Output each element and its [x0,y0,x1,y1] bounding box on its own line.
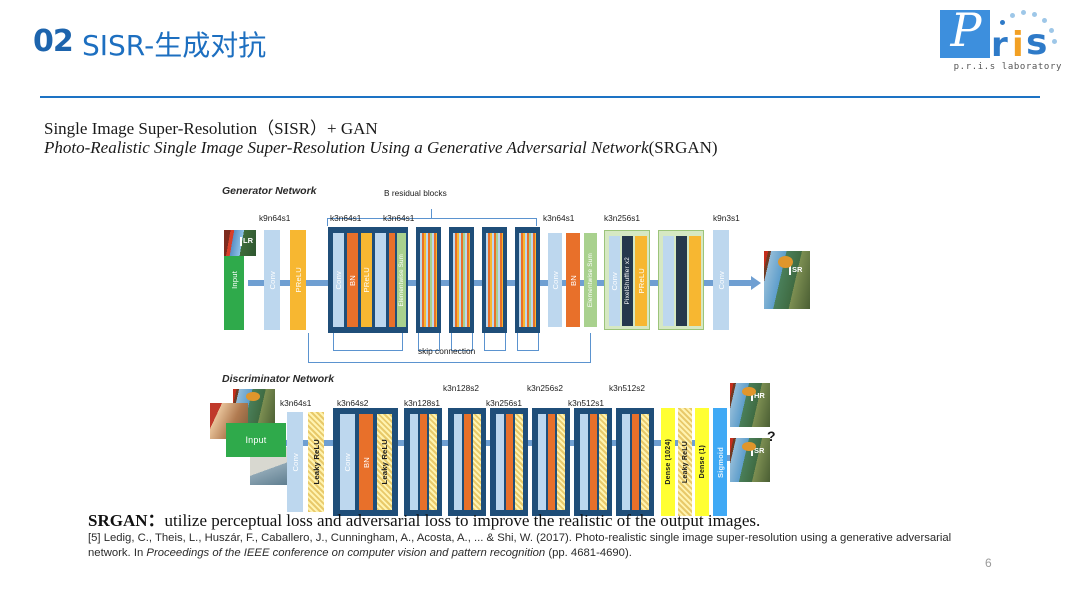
logo-dot-3 [1021,10,1026,15]
pixelshuffle-1-prelu: PReLU [635,236,647,326]
discriminator-kernel-label-2: k3n128s1 [404,398,440,408]
pixelshuffle-1-shuffler: PixelShuffler x2 [622,236,633,326]
generator-res-elementwise-sum-label: Elementwise Sum [398,254,405,307]
discriminator-kernel-label-5: k3n256s2 [527,383,563,393]
pixelshuffle-1-conv: Conv [609,236,620,326]
conclusion-lead: SRGAN： [88,511,165,530]
discriminator-block-leakyrelu: Leaky ReLU [377,414,392,510]
discriminator-dense-1-label: Dense (1) [699,445,706,478]
generator-kernel-label-2: k3n64s1 [383,213,414,223]
generator-res-prelu: PReLU [361,233,372,327]
discriminator-block-collapsed-4 [532,408,570,516]
discriminator-block-conv: Conv [340,414,355,510]
discriminator-block-bn: BN [359,414,373,510]
discriminator-block-collapsed-1 [404,408,442,516]
logo-dot-7 [1052,39,1057,44]
discriminator-input-label: Input [245,435,266,445]
sr-thumbnail-label: SR [792,265,802,274]
discriminator-head-conv-label: Conv [291,453,300,472]
discriminator-kernel-label-6: k3n512s1 [568,398,604,408]
reference-pages: (pp. 4681-4690). [548,547,632,559]
discriminator-dense-1024: Dense (1024) [661,408,675,516]
discriminator-dense-1024-label: Dense (1024) [665,439,672,485]
reference-venue-lead: In [134,547,143,559]
generator-tail-bn-label: BN [569,275,578,286]
discriminator-sigmoid: Sigmoid [713,408,727,516]
generator-network-title: Generator Network [222,185,317,197]
generator-kernel-label-4: k3n256s1 [604,213,640,223]
generator-res-bn-1: BN [347,233,358,327]
logo-dot-1 [1000,20,1005,25]
generator-res-conv-2 [375,233,386,327]
generator-residual-block-collapsed-1 [416,227,441,333]
discriminator-dense-leakyrelu: Leaky ReLU [678,408,692,516]
pixelshuffle-2-prelu [689,236,701,326]
generator-residual-block-collapsed-2 [449,227,474,333]
discriminator-kernel-label-7: k3n512s2 [609,383,645,393]
pris-logo: P r i s p.r.i.s laboratory [922,6,1062,80]
generator-kernel-label-3: k3n64s1 [543,213,574,223]
generator-res-conv-1: Conv [333,233,344,327]
discriminator-block-collapsed-2 [448,408,486,516]
b-residual-blocks-label: B residual blocks [384,188,447,198]
reference-citation: [5] Ledig, C., Theis, L., Huszár, F., Ca… [88,531,968,561]
generator-kernel-label-1: k3n64s1 [330,213,361,223]
logo-dot-2 [1010,13,1015,18]
generator-kernel-label-5: k9n3s1 [713,213,740,223]
reference-authors: Ledig, C., Theis, L., Huszár, F., Caball… [104,532,572,544]
discriminator-dense-leakyrelu-label: Leaky ReLU [682,441,689,483]
lr-input-thumbnail: LR [224,230,256,256]
paper-title-italic: Photo-Realistic Single Image Super-Resol… [44,138,649,157]
generator-conv-head-label: Conv [268,271,277,290]
intro-line-1: Single Image Super-Resolution（SISR）+ GAN [44,114,378,139]
discriminator-kernel-label-1: k3n64s2 [337,398,368,408]
discriminator-block-collapsed-3 [490,408,528,516]
pixelshuffle-1-conv-label: Conv [610,272,619,291]
discriminator-dense-1: Dense (1) [695,408,709,516]
paper-acronym: (SRGAN) [649,138,718,157]
header-divider [40,96,1040,98]
discriminator-sigmoid-label: Sigmoid [716,447,725,478]
page-number: 6 [985,556,992,570]
discriminator-sr-thumbnail-label: SR [754,446,764,455]
slide-header: 02 SISR-生成对抗 [0,0,1080,100]
pixelshuffle-2-conv [663,236,674,326]
generator-res-conv-1-label: Conv [334,271,343,290]
generator-residual-block-collapsed-4 [515,227,540,333]
logo-dot-6 [1049,28,1054,33]
discriminator-head-leakyrelu: Leaky ReLU [308,412,324,512]
discriminator-input-block: Input [226,423,286,457]
discriminator-block-conv-label: Conv [343,453,352,472]
section-number: 02 [33,24,73,59]
skip-connection-label: skip connection [418,346,475,356]
reference-venue: Proceedings of the IEEE conference on co… [146,547,545,559]
generator-residual-block-collapsed-3 [482,227,507,333]
logo-caption: p.r.i.s laboratory [950,62,1062,72]
logo-dot-5 [1042,18,1047,23]
srgan-architecture-diagram: Generator Network B residual blocks Inpu… [0,185,1080,505]
discriminator-sr-output-thumbnail: SR [730,438,770,482]
logo-letter-s: s [1026,26,1047,60]
discriminator-kernel-label-3: k3n128s2 [443,383,479,393]
generator-tail-bn: BN [566,233,580,327]
pixelshuffle-group-2 [658,230,704,330]
discriminator-head-leakyrelu-label: Leaky ReLU [312,439,321,484]
conclusion-line: SRGAN：utilize perceptual loss and advers… [88,506,760,531]
generator-output-bus [729,280,752,286]
generator-res-bn-1-label: BN [348,275,357,286]
pixelshuffle-1-prelu-label: PReLU [637,268,646,293]
generator-output-arrow-icon [751,276,761,290]
generator-final-conv-label: Conv [717,271,726,290]
discriminator-head-conv: Conv [287,412,303,512]
discriminator-network-title: Discriminator Network [222,373,334,385]
logo-letter-i: i [1012,28,1024,62]
generator-kernel-label-0: k9n64s1 [259,213,290,223]
generator-res-elementwise-sum: Elementwise Sum [397,233,406,327]
discriminator-block-collapsed-6 [616,408,654,516]
lr-thumbnail-label: LR [243,236,253,245]
discriminator-block-collapsed-5 [574,408,612,516]
generator-tail-elementwise-sum: Elementwise Sum [584,233,597,327]
pixelshuffle-2-shuffler [676,236,687,326]
discriminator-kernel-label-0: k3n64s1 [280,398,311,408]
generator-res-bn-2 [389,233,395,327]
decision-question-mark: ? [767,428,776,444]
logo-p-letter: P [942,4,990,58]
generator-tail-conv-label: Conv [551,271,560,290]
pixelshuffle-group-1: Conv PixelShuffler x2 PReLU [604,230,650,330]
generator-conv-head: Conv [264,230,280,330]
logo-letter-r: r [991,28,1008,62]
discriminator-kernel-label-4: k3n256s1 [486,398,522,408]
generator-tail-elementwise-sum-label: Elementwise Sum [587,253,594,307]
discriminator-block-bn-label: BN [362,457,371,468]
generator-prelu-head-label: PReLU [294,267,303,292]
pixelshuffle-1-shuffler-label: PixelShuffler x2 [624,257,631,305]
generator-input-label: Input [230,271,239,289]
discriminator-block-leakyrelu-label: Leaky ReLU [380,439,389,484]
conclusion-text: utilize perceptual loss and adversarial … [165,511,761,530]
reference-index: [5] [88,532,101,544]
generator-tail-conv: Conv [548,233,562,327]
intro-line-2: Photo-Realistic Single Image Super-Resol… [44,138,718,158]
hr-thumbnail-label: HR [754,391,765,400]
hr-output-thumbnail: HR [730,383,770,427]
logo-dot-4 [1032,12,1037,17]
generator-prelu-head: PReLU [290,230,306,330]
residual-blocks-bracket-tick [431,209,432,219]
page-title: SISR-生成对抗 [82,24,266,64]
sr-output-thumbnail: SR [764,251,810,309]
generator-final-conv: Conv [713,230,729,330]
generator-res-prelu-label: PReLU [362,267,371,292]
